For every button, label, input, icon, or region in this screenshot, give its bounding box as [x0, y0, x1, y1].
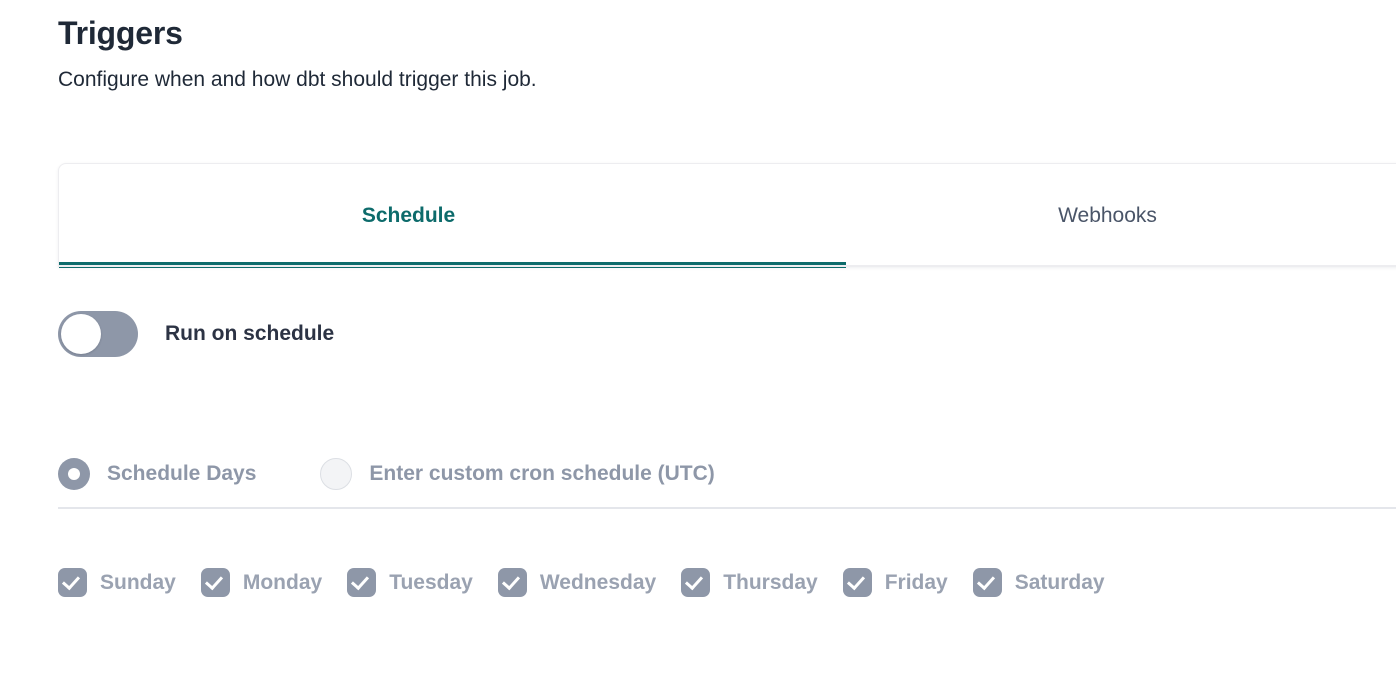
checkbox-checked-icon[interactable]	[201, 568, 230, 597]
radio-option-schedule-days[interactable]: Schedule Days	[58, 458, 256, 490]
schedule-days-row: Sunday Monday Tuesday Wednesday Thursday…	[58, 568, 1105, 597]
radio-label-custom-cron: Enter custom cron schedule (UTC)	[369, 460, 714, 488]
tab-webhooks-label: Webhooks	[1058, 204, 1157, 228]
day-label-tuesday: Tuesday	[389, 569, 473, 597]
tab-strip: Schedule Webhooks	[59, 164, 1396, 267]
page-header: Triggers Configure when and how dbt shou…	[58, 12, 1338, 94]
day-label-wednesday: Wednesday	[540, 569, 656, 597]
radio-selected-icon[interactable]	[58, 458, 90, 490]
checkbox-checked-icon[interactable]	[498, 568, 527, 597]
day-item-tuesday[interactable]: Tuesday	[347, 568, 473, 597]
day-item-friday[interactable]: Friday	[843, 568, 948, 597]
day-label-thursday: Thursday	[723, 569, 818, 597]
day-item-wednesday[interactable]: Wednesday	[498, 568, 656, 597]
checkbox-checked-icon[interactable]	[973, 568, 1002, 597]
day-item-sunday[interactable]: Sunday	[58, 568, 176, 597]
radio-unselected-icon[interactable]	[320, 458, 352, 490]
checkbox-checked-icon[interactable]	[681, 568, 710, 597]
checkbox-checked-icon[interactable]	[347, 568, 376, 597]
checkbox-checked-icon[interactable]	[58, 568, 87, 597]
radio-label-schedule-days: Schedule Days	[107, 460, 256, 488]
run-on-schedule-toggle[interactable]	[58, 311, 138, 357]
tab-webhooks[interactable]: Webhooks	[758, 164, 1396, 267]
checkbox-checked-icon[interactable]	[843, 568, 872, 597]
schedule-mode-radio-group: Schedule Days Enter custom cron schedule…	[58, 458, 715, 490]
day-item-thursday[interactable]: Thursday	[681, 568, 818, 597]
tabs-card: Schedule Webhooks	[58, 163, 1396, 267]
toggle-knob	[61, 314, 101, 354]
tab-schedule-label: Schedule	[362, 204, 455, 228]
run-on-schedule-label: Run on schedule	[165, 320, 334, 348]
radio-option-custom-cron[interactable]: Enter custom cron schedule (UTC)	[320, 458, 714, 490]
day-item-saturday[interactable]: Saturday	[973, 568, 1105, 597]
section-divider	[58, 507, 1396, 509]
page-title: Triggers	[58, 12, 1338, 54]
page-subtitle: Configure when and how dbt should trigge…	[58, 66, 1338, 94]
day-label-monday: Monday	[243, 569, 322, 597]
tab-baseline-divider	[58, 265, 1396, 267]
day-label-sunday: Sunday	[100, 569, 176, 597]
triggers-page: Triggers Configure when and how dbt shou…	[0, 0, 1396, 680]
day-label-friday: Friday	[885, 569, 948, 597]
day-item-monday[interactable]: Monday	[201, 568, 322, 597]
tab-schedule[interactable]: Schedule	[59, 164, 758, 267]
day-label-saturday: Saturday	[1015, 569, 1105, 597]
run-on-schedule-row: Run on schedule	[58, 311, 334, 357]
